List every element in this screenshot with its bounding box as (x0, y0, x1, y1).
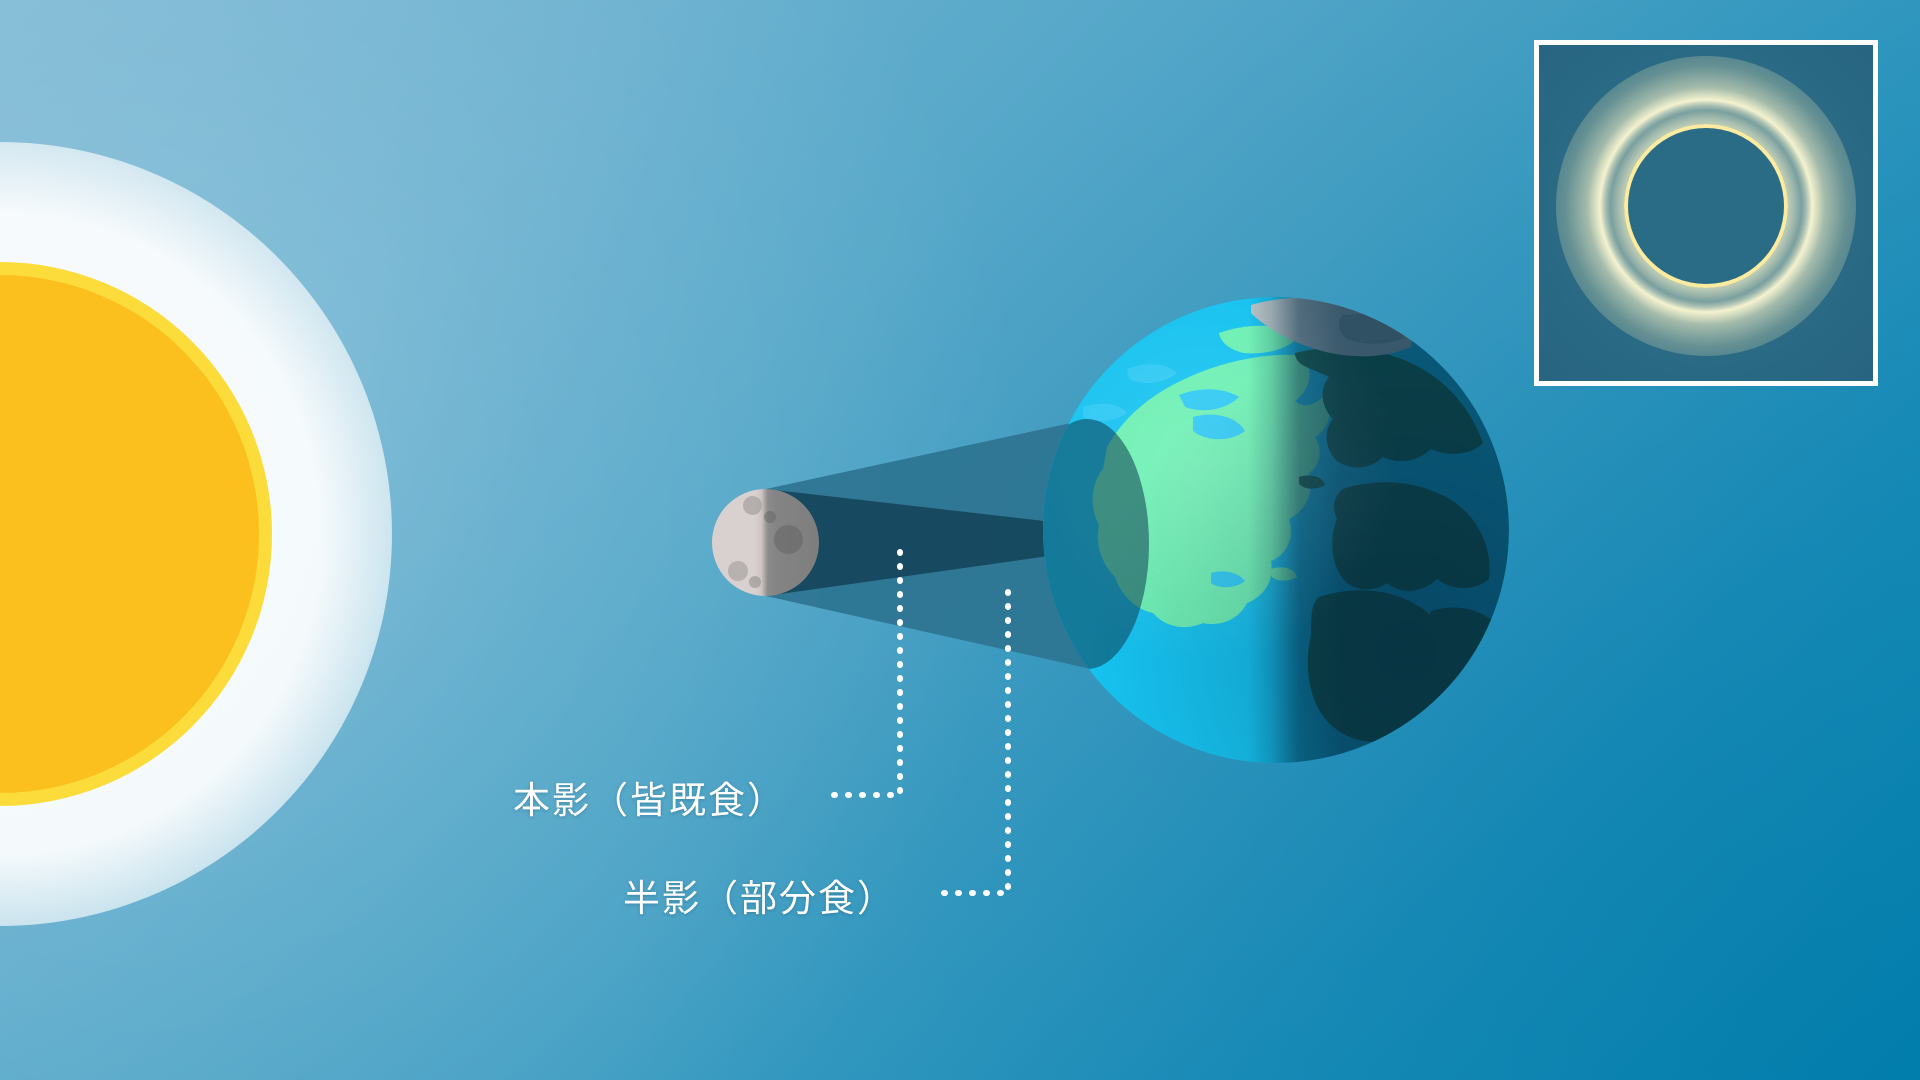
moon-crater (728, 561, 748, 581)
moon-crater (743, 496, 762, 515)
eclipsed-sun-disc (1628, 128, 1784, 284)
inset-background (1539, 45, 1873, 381)
earth (1043, 297, 1509, 763)
moon-crater (764, 511, 776, 523)
moon-crater (749, 576, 761, 588)
moon-crater (774, 525, 803, 554)
moon (712, 489, 819, 596)
penumbra-label: 半影（部分食） (623, 868, 896, 922)
total-eclipse-inset-panel (1534, 40, 1878, 386)
eclipse-diagram-canvas: 本影（皆既食） 半影（部分食） (0, 0, 1920, 1080)
umbra-label: 本影（皆既食） (513, 770, 786, 824)
umbra-leader-line (834, 540, 900, 795)
sun (0, 262, 272, 806)
penumbra-leader-line (944, 585, 1008, 893)
